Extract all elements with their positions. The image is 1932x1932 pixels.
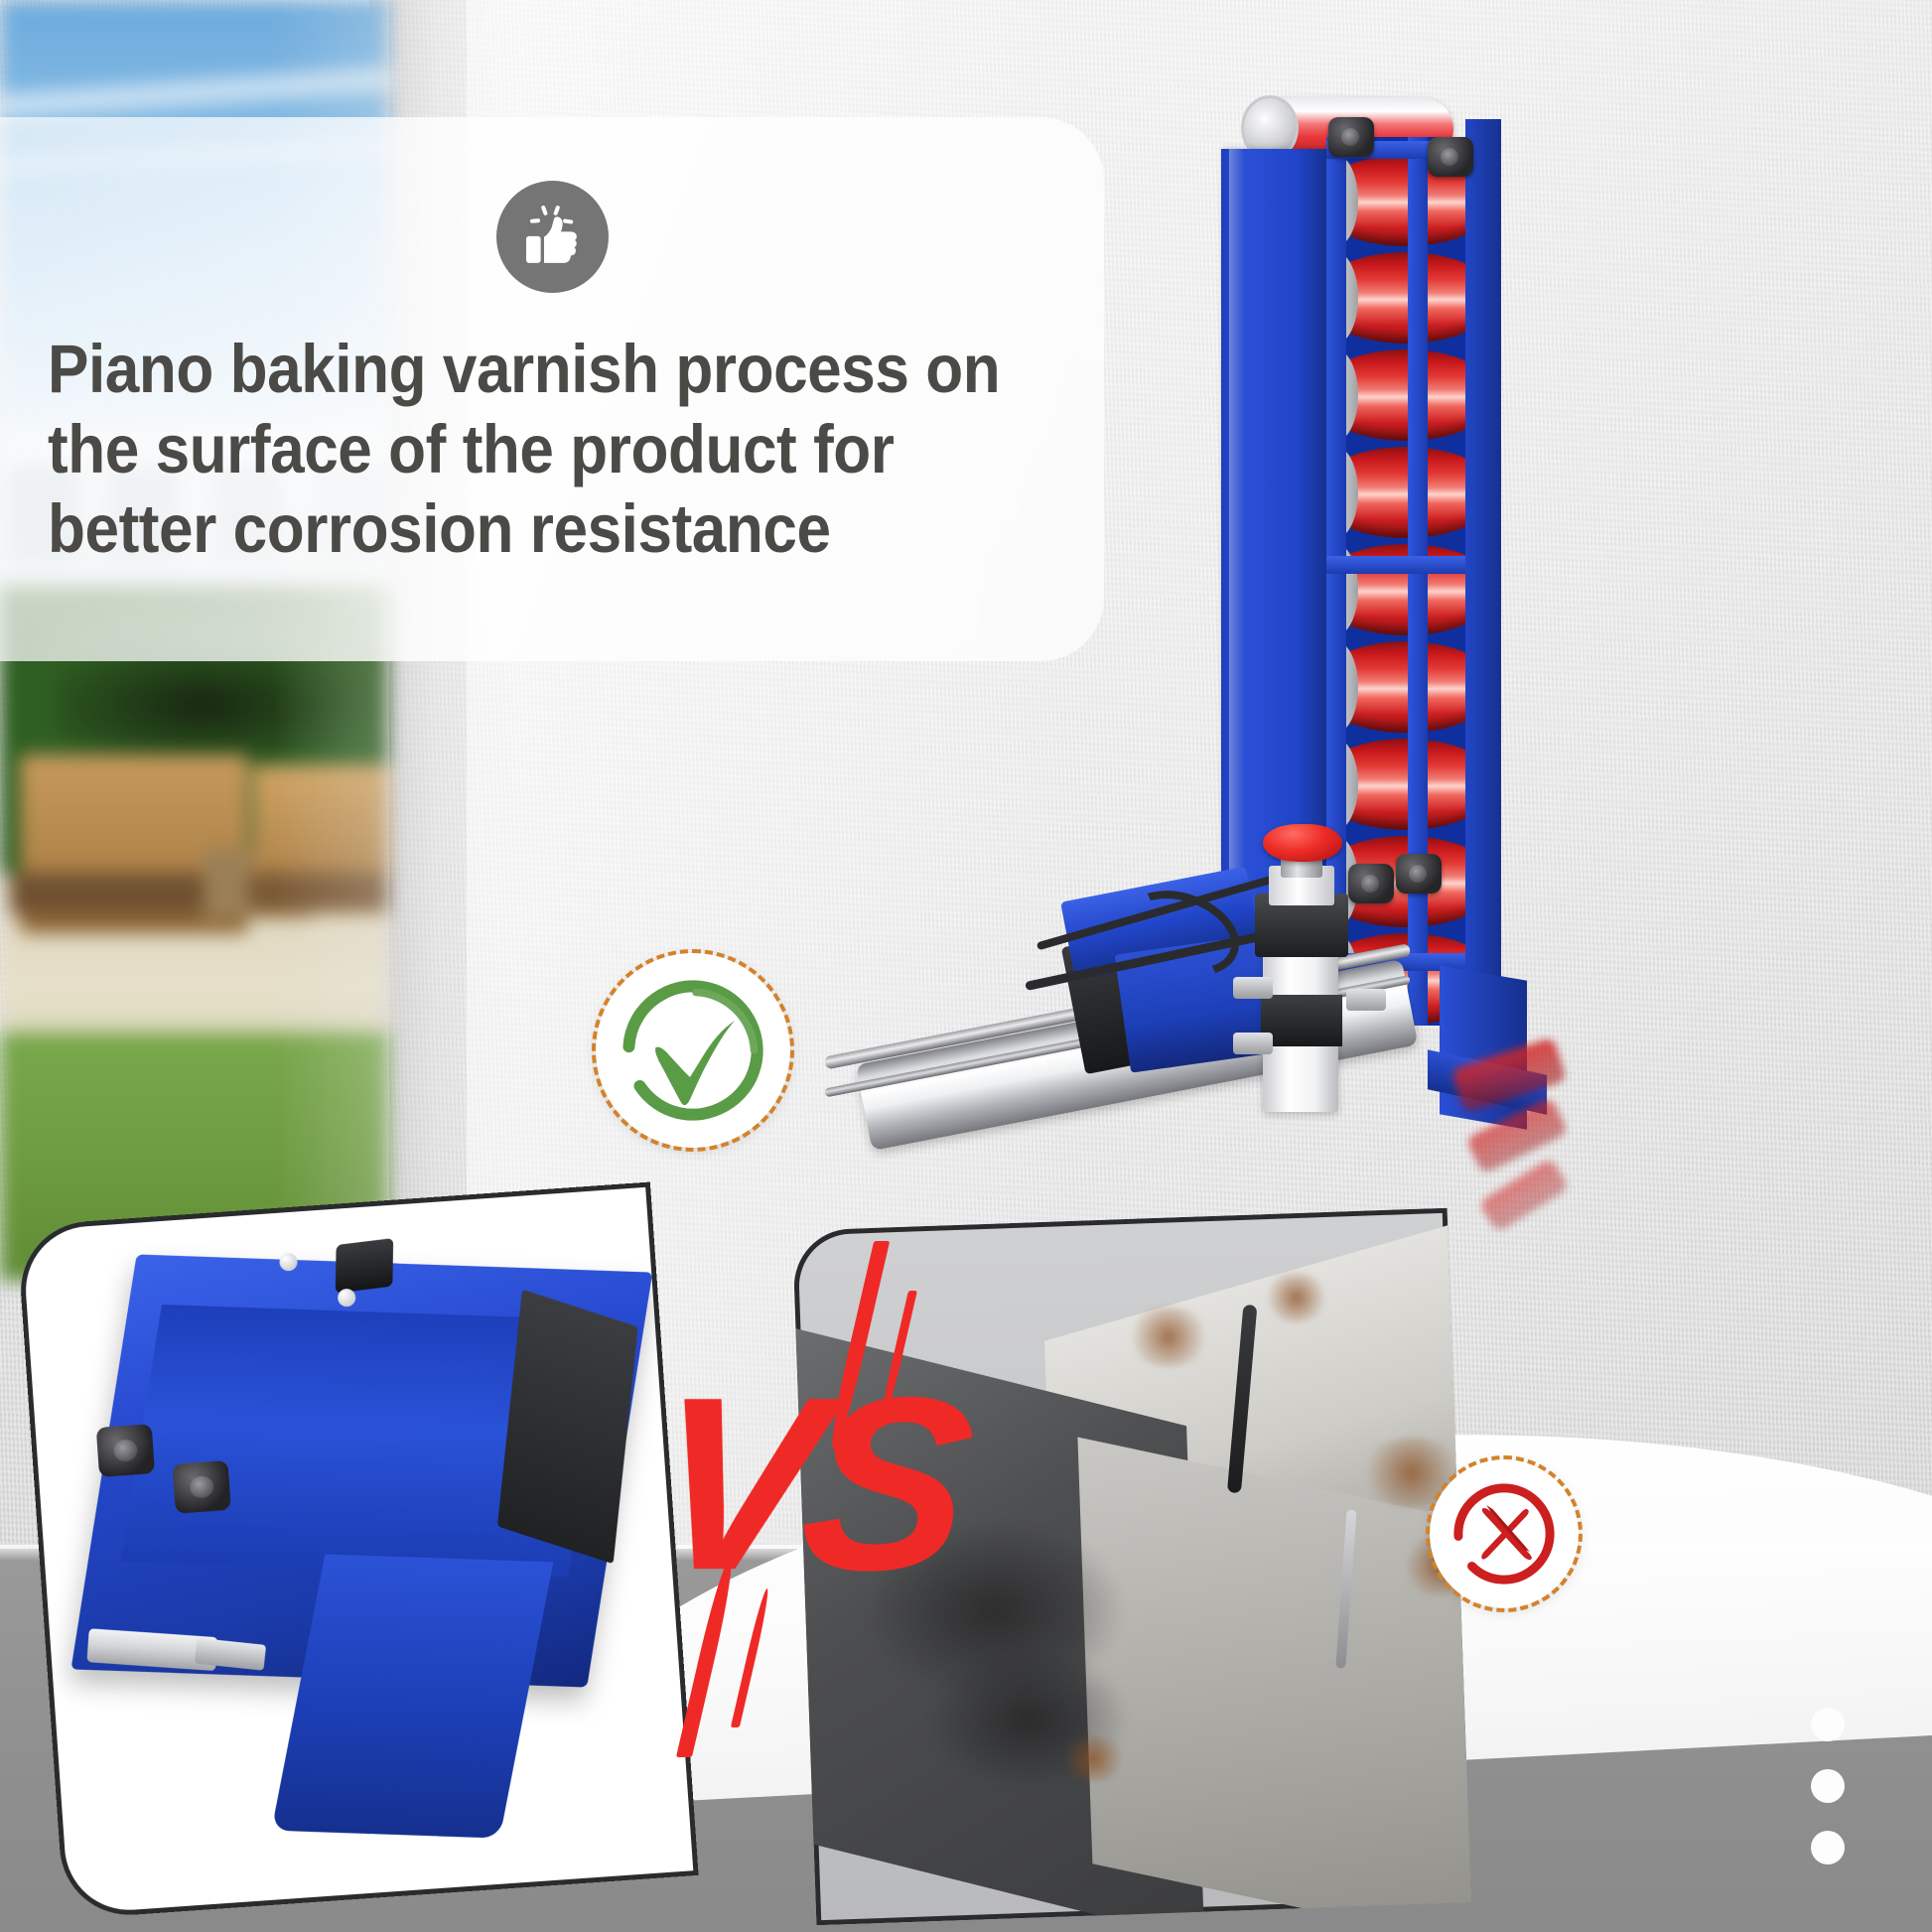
- can-dispenser-machine: [1142, 60, 1698, 1231]
- pagination-dots[interactable]: [1811, 1708, 1855, 1886]
- hose-fitting-c: [1346, 989, 1386, 1011]
- rack-knob-bottom-left: [1348, 864, 1394, 903]
- valve-lower-housing: [1261, 995, 1342, 1046]
- versus-graphic: VS: [655, 1231, 1072, 1648]
- pagination-dot-3[interactable]: [1811, 1831, 1845, 1864]
- hose-fitting-b: [1233, 1033, 1273, 1054]
- versus-label: VS: [642, 1360, 969, 1606]
- page-title: Piano baking varnish process on the surf…: [48, 330, 1004, 570]
- product-marketing-image: Piano baking varnish process on the surf…: [0, 0, 1932, 1932]
- rack-crossbar-mid: [1326, 556, 1485, 574]
- emergency-stop-button[interactable]: [1263, 824, 1342, 862]
- rack-knob-bottom-right: [1396, 854, 1442, 894]
- hose-fitting-a: [1233, 977, 1273, 999]
- cross-mark-badge: [1430, 1459, 1579, 1608]
- magazine-backplate: [1465, 119, 1501, 1042]
- check-mark-icon: [619, 976, 767, 1125]
- thumbs-up-icon: [496, 181, 609, 293]
- pagination-dot-2[interactable]: [1811, 1769, 1845, 1803]
- cross-mark-icon: [1449, 1478, 1560, 1589]
- check-mark-badge: [596, 953, 790, 1148]
- rack-knob-top-right: [1428, 137, 1473, 177]
- pagination-dot-1[interactable]: [1811, 1708, 1845, 1741]
- inset-good-product-photo: [16, 1182, 698, 1920]
- rack-knob-top-left: [1328, 117, 1374, 157]
